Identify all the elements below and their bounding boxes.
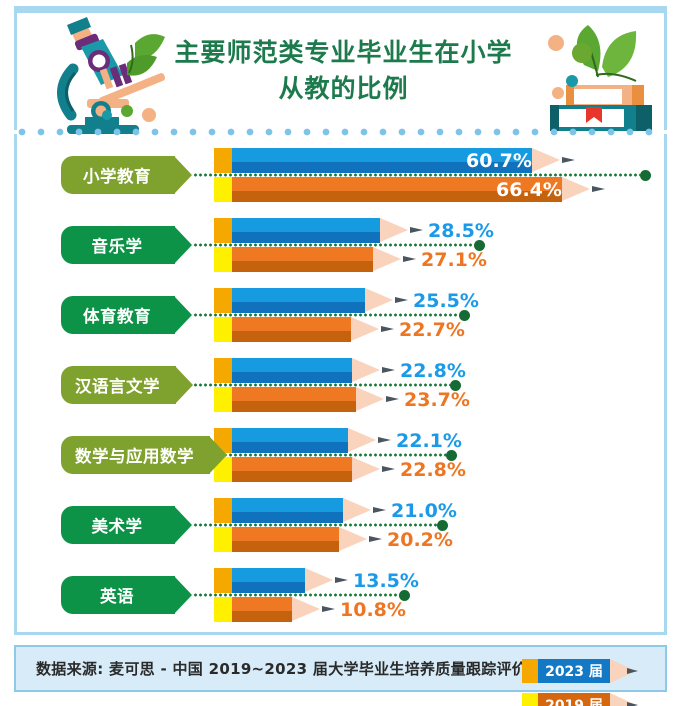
chart-title-line1: 主要师范类专业毕业生在小学 <box>17 35 670 71</box>
category-label-5[interactable]: 数学与应用数学 <box>61 436 210 474</box>
shaft-upper <box>232 317 351 331</box>
pill-arrow <box>174 506 192 544</box>
pencil-tip <box>352 457 380 481</box>
shaft-lower <box>232 471 352 482</box>
category-label-text: 英语 <box>100 583 134 607</box>
legend-shaft-2023: 2023 届 <box>538 659 610 683</box>
pencil-tip <box>373 247 401 271</box>
pencil-lead-point <box>322 606 335 612</box>
pencil-eraser-cap <box>214 527 232 552</box>
bar-2019[interactable]: 22.8% <box>214 457 352 482</box>
pill-arrow <box>174 226 192 264</box>
pencil-eraser-cap <box>214 498 232 523</box>
value-label-2023: 21.0% <box>391 500 457 522</box>
shaft-upper <box>232 457 352 471</box>
pencil-lead-point <box>373 507 386 513</box>
shaft-upper <box>232 288 365 302</box>
pencil-tip <box>352 358 380 382</box>
value-label-2023: 28.5% <box>428 220 494 242</box>
legend-lead-2023 <box>627 668 638 674</box>
legend-cap-2023 <box>522 659 538 683</box>
pill-arrow <box>174 296 192 334</box>
pencil-eraser-cap <box>214 387 232 412</box>
bar-row: 体育教育25.5%22.7% <box>17 280 670 350</box>
pill-arrow <box>174 156 192 194</box>
pencil-shaft <box>232 288 365 313</box>
shaft-upper <box>232 358 352 372</box>
category-label-4[interactable]: 汉语言文学 <box>61 366 176 404</box>
legend-label-2023: 2023 届 <box>545 661 603 681</box>
value-label-2023: 60.7% <box>466 150 532 172</box>
value-label-2019: 66.4% <box>496 179 562 201</box>
infographic-page: 主要师范类专业毕业生在小学 从教的比例 小学教育60.7%66.4%音乐学28.… <box>0 0 681 706</box>
pencil-shaft <box>232 317 351 342</box>
category-label-1[interactable]: 小学教育 <box>61 156 175 194</box>
pencil-lead-point <box>381 326 394 332</box>
shaft-lower <box>232 331 351 342</box>
pencil-tip <box>532 148 560 172</box>
bar-row: 数学与应用数学22.1%22.8% <box>17 420 670 490</box>
pencil-tip <box>305 568 333 592</box>
source-text: 数据来源: 麦可思 - 中国 2019~2023 届大学毕业生培养质量跟踪评价。 <box>16 658 542 679</box>
shaft-upper <box>232 218 380 232</box>
pencil-lead-point <box>382 367 395 373</box>
category-label-6[interactable]: 美术学 <box>61 506 175 544</box>
category-label-text: 体育教育 <box>83 303 151 327</box>
pencil-shaft <box>232 597 292 622</box>
bar-2023[interactable]: 22.1% <box>214 428 348 453</box>
shaft-lower <box>232 541 339 552</box>
shaft-lower <box>232 372 352 383</box>
pencil-tip <box>348 428 376 452</box>
value-label-2019: 22.7% <box>399 319 465 341</box>
legend-lead-2019 <box>627 702 638 706</box>
shaft-lower <box>232 261 373 272</box>
bar-2019[interactable]: 23.7% <box>214 387 356 412</box>
pencil-shaft <box>232 527 339 552</box>
pencil-eraser-cap <box>214 568 232 593</box>
pencil-shaft <box>232 457 352 482</box>
shaft-upper <box>232 597 292 611</box>
shaft-upper <box>232 527 339 541</box>
pencil-tip <box>351 317 379 341</box>
pencil-lead-point <box>378 437 391 443</box>
bar-row: 汉语言文学22.8%23.7% <box>17 350 670 420</box>
pencil-tip <box>380 218 408 242</box>
pencil-tip <box>365 288 393 312</box>
bar-2019[interactable]: 27.1% <box>214 247 373 272</box>
category-label-2[interactable]: 音乐学 <box>61 226 175 264</box>
pencil-lead-point <box>369 536 382 542</box>
chart-panel: 小学教育60.7%66.4%音乐学28.5%27.1%体育教育25.5%22.7… <box>14 134 667 635</box>
legend-cap-2019 <box>522 693 538 706</box>
pencil-eraser-cap <box>214 358 232 383</box>
category-label-3[interactable]: 体育教育 <box>61 296 175 334</box>
pencil-eraser-cap <box>214 597 232 622</box>
bar-2023[interactable]: 21.0% <box>214 498 343 523</box>
value-label-2023: 22.1% <box>396 430 462 452</box>
pencil-shaft <box>232 568 305 593</box>
value-label-2023: 22.8% <box>400 360 466 382</box>
pill-arrow <box>174 576 192 614</box>
value-label-2019: 10.8% <box>340 599 406 621</box>
pencil-lead-point <box>395 297 408 303</box>
header-banner: 主要师范类专业毕业生在小学 从教的比例 <box>14 6 667 130</box>
chart-title: 主要师范类专业毕业生在小学 从教的比例 <box>17 35 670 107</box>
pencil-tip <box>339 527 367 551</box>
pill-arrow <box>175 366 193 404</box>
pencil-lead-point <box>410 227 423 233</box>
bar-row: 英语13.5%10.8% <box>17 560 670 630</box>
pencil-tip <box>343 498 371 522</box>
pill-arrow <box>209 436 227 474</box>
shaft-lower <box>232 302 365 313</box>
bar-2019[interactable]: 10.8% <box>214 597 292 622</box>
bar-2023[interactable]: 28.5% <box>214 218 380 243</box>
pencil-tip <box>562 177 590 201</box>
shaft-lower <box>232 401 356 412</box>
pencil-lead-point <box>335 577 348 583</box>
pencil-shaft <box>232 358 352 383</box>
pencil-shaft <box>232 247 373 272</box>
pencil-eraser-cap <box>214 148 232 173</box>
shaft-lower <box>232 442 348 453</box>
legend-shaft-2019: 2019 届 <box>538 693 610 706</box>
category-label-text: 小学教育 <box>83 163 151 187</box>
pencil-lead-point <box>562 157 575 163</box>
bar-2019[interactable]: 22.7% <box>214 317 351 342</box>
bar-row: 美术学21.0%20.2% <box>17 490 670 560</box>
category-label-text: 音乐学 <box>92 233 143 257</box>
connector-end-dot <box>640 170 651 181</box>
bar-2019[interactable]: 66.4% <box>214 177 562 202</box>
shaft-lower <box>232 512 343 523</box>
pencil-lead-point <box>382 466 395 472</box>
shaft-lower <box>232 232 380 243</box>
header-divider <box>14 128 667 136</box>
category-label-7[interactable]: 英语 <box>61 576 175 614</box>
pencil-shaft <box>232 218 380 243</box>
pencil-eraser-cap <box>214 288 232 313</box>
pencil-shaft <box>232 387 356 412</box>
shaft-lower <box>232 582 305 593</box>
bar-row: 音乐学28.5%27.1% <box>17 210 670 280</box>
value-label-2019: 20.2% <box>387 529 453 551</box>
bar-2023[interactable]: 13.5% <box>214 568 305 593</box>
legend-label-2019: 2019 届 <box>545 695 603 706</box>
shaft-upper <box>232 387 356 401</box>
value-label-2023: 25.5% <box>413 290 479 312</box>
pencil-tip <box>292 597 320 621</box>
shaft-lower <box>232 611 292 622</box>
value-label-2019: 22.8% <box>400 459 466 481</box>
pencil-shaft <box>232 498 343 523</box>
shaft-upper <box>232 247 373 261</box>
pencil-eraser-cap <box>214 177 232 202</box>
shaft-upper <box>232 498 343 512</box>
bar-2023[interactable]: 25.5% <box>214 288 365 313</box>
pencil-eraser-cap <box>214 247 232 272</box>
pencil-shaft <box>232 428 348 453</box>
pencil-eraser-cap <box>214 218 232 243</box>
value-label-2019: 23.7% <box>404 389 470 411</box>
shaft-upper <box>232 568 305 582</box>
value-label-2019: 27.1% <box>421 249 487 271</box>
bar-2019[interactable]: 20.2% <box>214 527 339 552</box>
category-label-text: 美术学 <box>92 513 143 537</box>
pencil-eraser-cap <box>214 317 232 342</box>
bar-2023[interactable]: 60.7% <box>214 148 532 173</box>
pencil-tip <box>356 387 384 411</box>
category-label-text: 汉语言文学 <box>75 373 160 397</box>
chart-title-line2: 从教的比例 <box>17 71 670 107</box>
bar-row: 小学教育60.7%66.4% <box>17 140 670 210</box>
pencil-lead-point <box>592 186 605 192</box>
pencil-lead-point <box>403 256 416 262</box>
bar-2023[interactable]: 22.8% <box>214 358 352 383</box>
value-label-2023: 13.5% <box>353 570 419 592</box>
category-label-text: 数学与应用数学 <box>75 443 194 467</box>
pencil-lead-point <box>386 396 399 402</box>
shaft-upper <box>232 428 348 442</box>
